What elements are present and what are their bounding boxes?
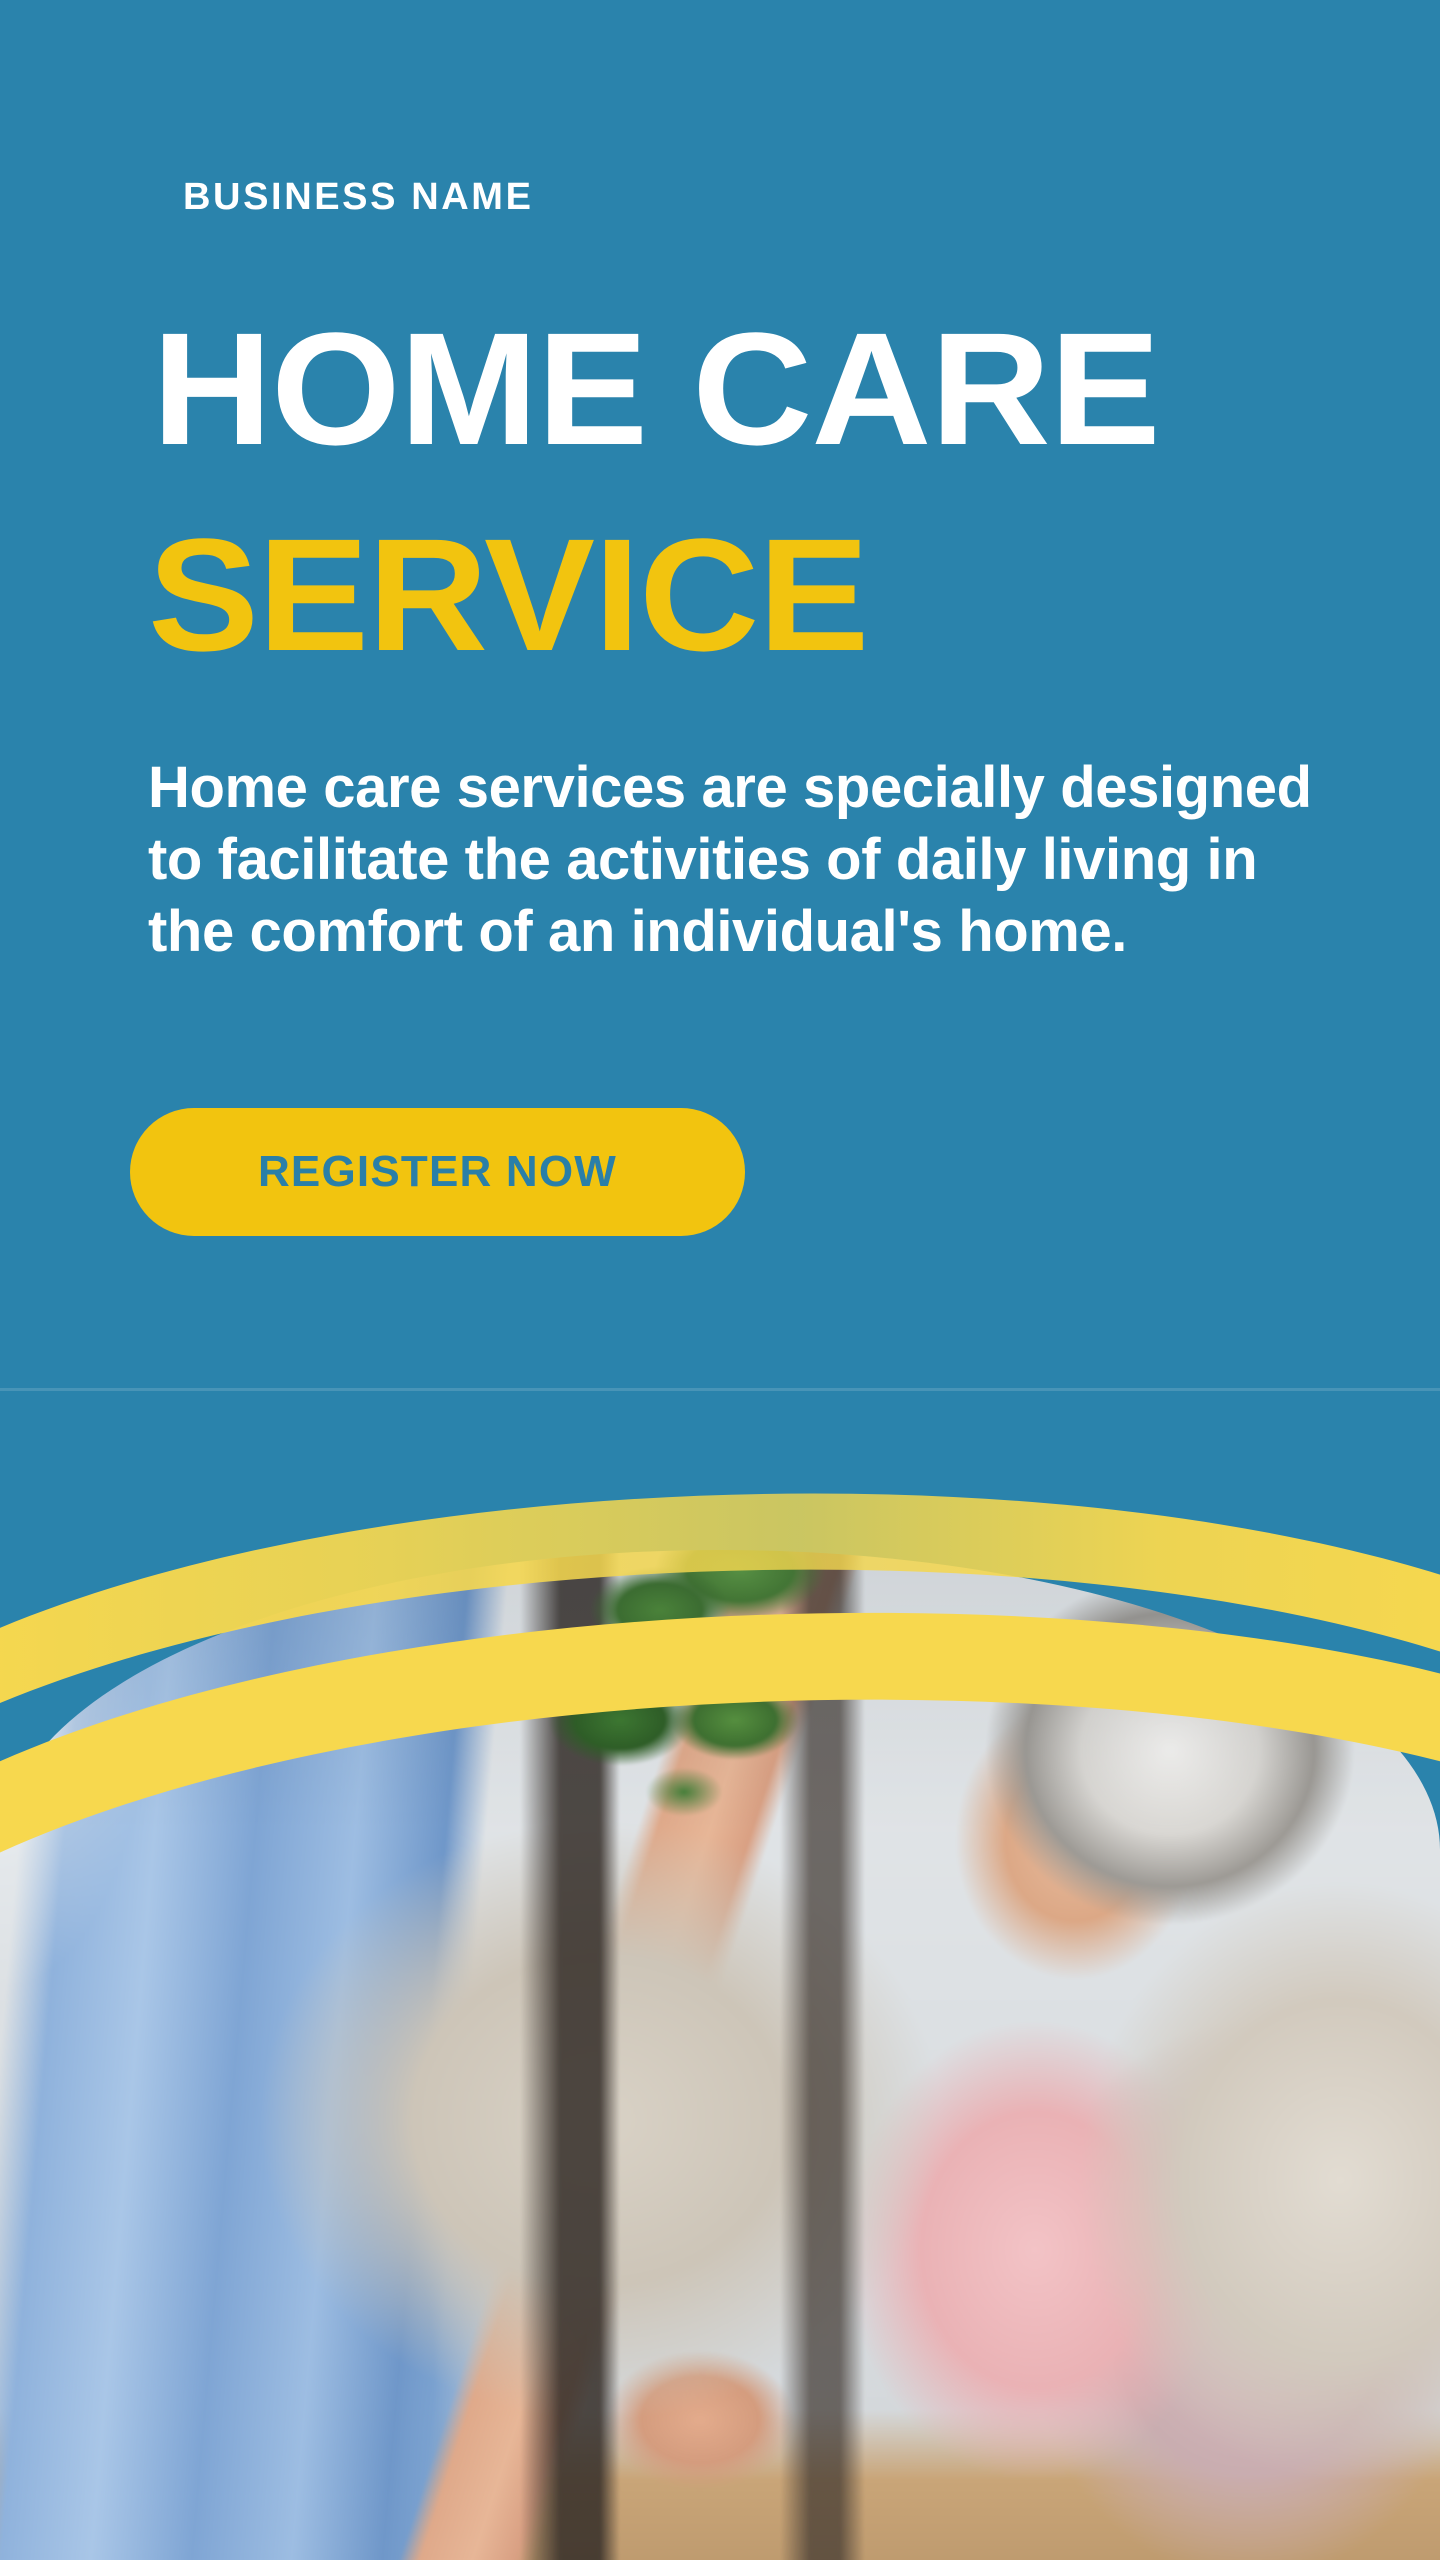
register-now-button[interactable]: REGISTER NOW bbox=[130, 1108, 745, 1236]
page-title-line1: HOME CARE bbox=[152, 312, 1400, 466]
page-title-line2: SERVICE bbox=[148, 518, 868, 672]
section-divider bbox=[0, 1388, 1440, 1391]
photo-rounded-mask bbox=[0, 1550, 1440, 2560]
hero-text-panel: BUSINESS NAME HOME CARE SERVICE Home car… bbox=[0, 0, 1440, 1390]
business-name-label: BUSINESS NAME bbox=[183, 178, 534, 216]
photo-top-shade bbox=[0, 1550, 1440, 2560]
hero-description: Home care services are specially designe… bbox=[148, 752, 1333, 968]
hero-photo-section bbox=[0, 1390, 1440, 2560]
register-now-button-label: REGISTER NOW bbox=[258, 1150, 617, 1194]
poster-canvas: BUSINESS NAME HOME CARE SERVICE Home car… bbox=[0, 0, 1440, 2560]
